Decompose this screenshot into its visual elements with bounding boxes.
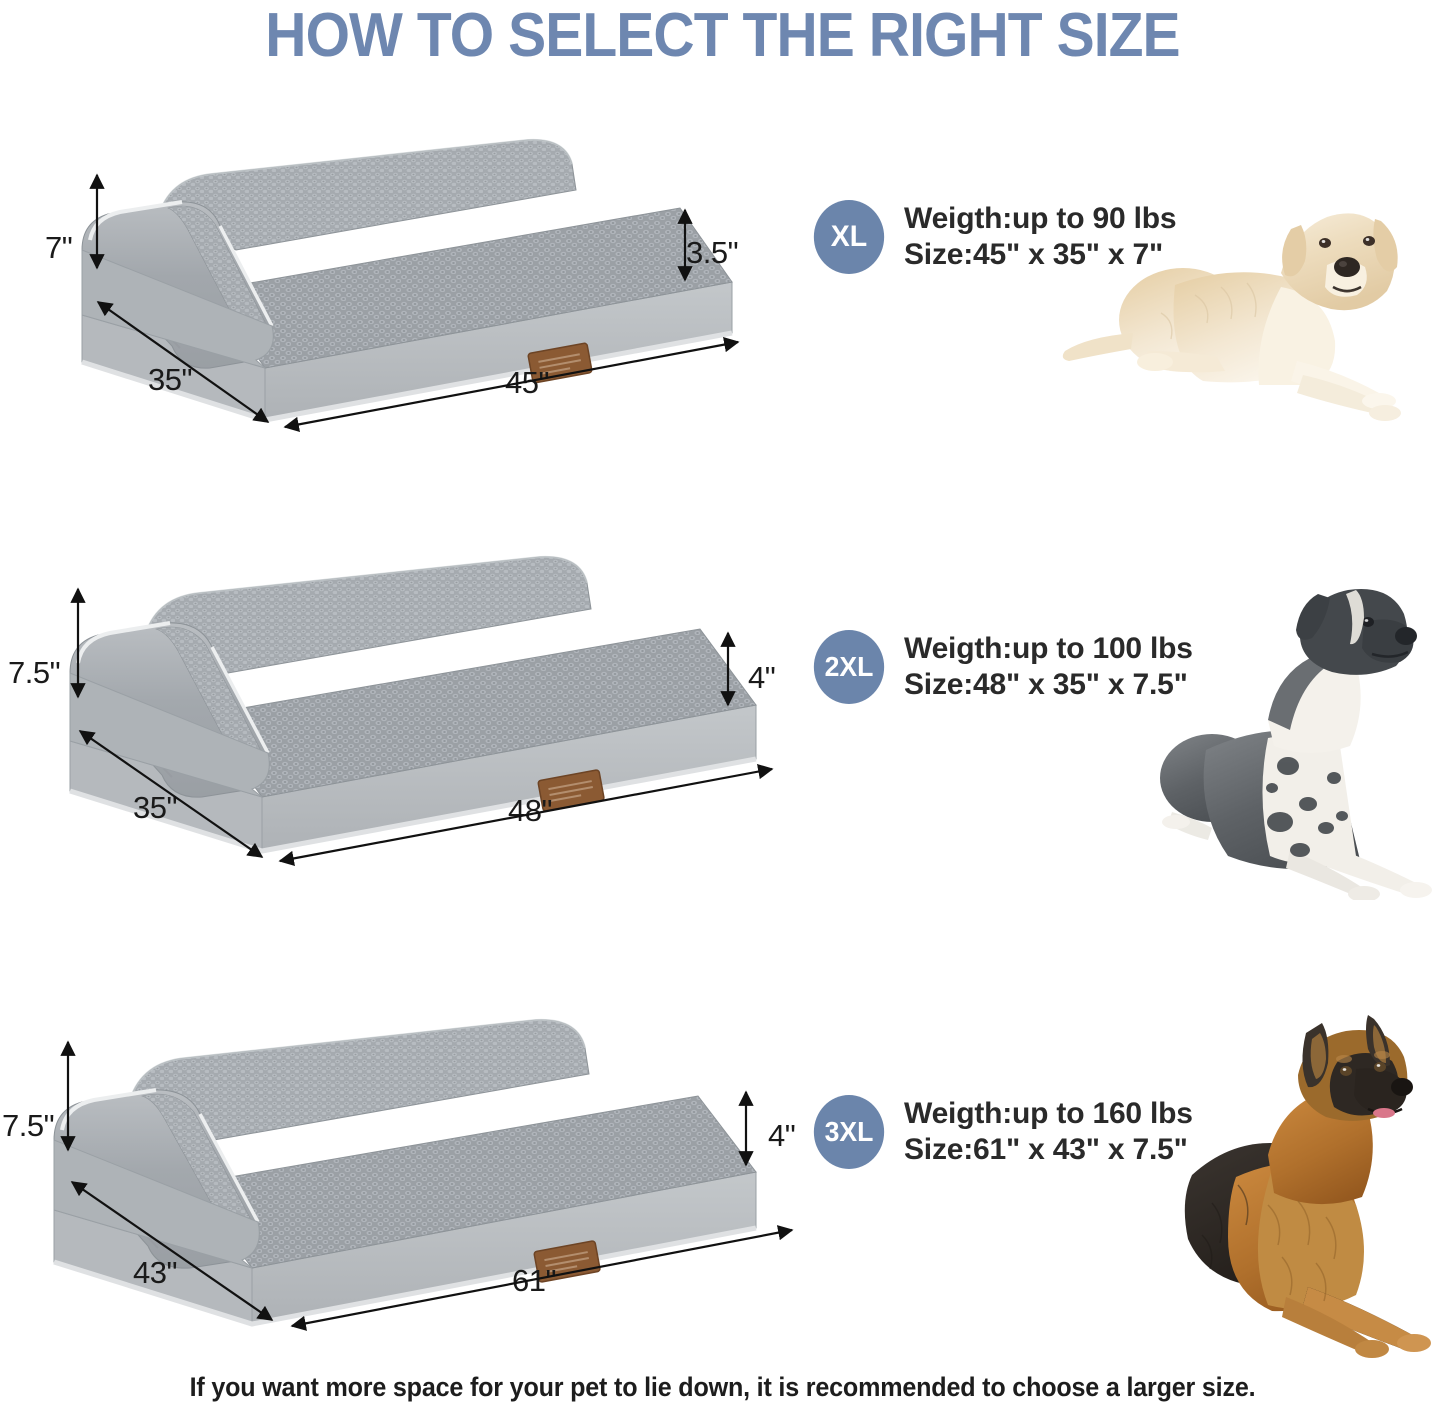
footer-note: If you want more space for your pet to l… bbox=[51, 1372, 1395, 1403]
dimension-arrows-2xl bbox=[0, 535, 880, 885]
dog-photo-german-shepherd bbox=[1140, 1005, 1445, 1365]
size-badge-2xl: 2XL bbox=[814, 630, 884, 704]
dog-photo-great-dane bbox=[1150, 560, 1445, 900]
page-title: HOW TO SELECT THE RIGHT SIZE bbox=[58, 0, 1387, 74]
size-row-xl: 7" 3.5" 35" 45" XL Weigth:up to 90 lbs S… bbox=[0, 120, 1445, 450]
size-badge-xl: XL bbox=[814, 200, 884, 274]
size-row-2xl: 7.5" 4" 35" 48" 2XL Weigth:up to 100 lbs… bbox=[0, 535, 1445, 885]
dimension-arrows-3xl bbox=[0, 1000, 900, 1360]
dimension-arrows-xl bbox=[0, 120, 820, 450]
size-row-3xl: 7.5" 4" 43" 61" 3XL Weigth:up to 160 lbs… bbox=[0, 1000, 1445, 1360]
spec-block-2xl: 2XL Weigth:up to 100 lbs Size:48" x 35" … bbox=[812, 630, 1193, 704]
spec-block-3xl: 3XL Weigth:up to 160 lbs Size:61" x 43" … bbox=[812, 1095, 1193, 1169]
size-badge-3xl: 3XL bbox=[814, 1095, 884, 1169]
dog-photo-golden-retriever bbox=[1035, 155, 1435, 435]
